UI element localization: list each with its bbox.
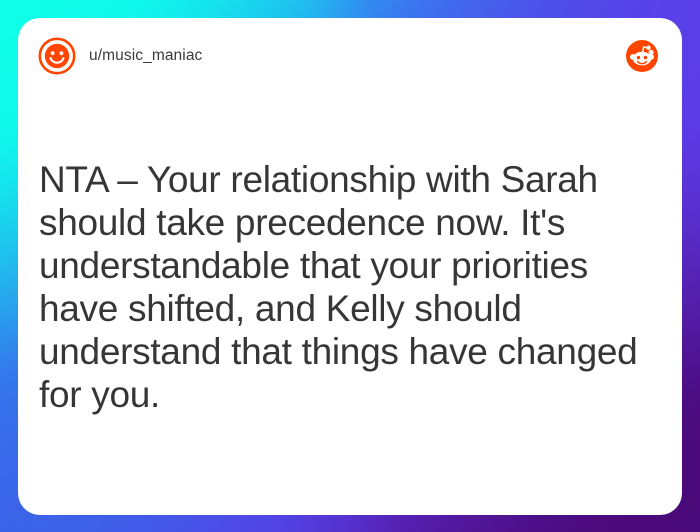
smiley-face-avatar-icon bbox=[38, 37, 76, 75]
post-text: NTA – Your relationship with Sarah shoul… bbox=[39, 158, 658, 416]
post-body: NTA – Your relationship with Sarah shoul… bbox=[39, 158, 658, 416]
post-header: u/music_maniac bbox=[18, 18, 682, 94]
reddit-post-card: u/music_maniac bbox=[18, 18, 682, 515]
gradient-background: u/music_maniac bbox=[0, 0, 700, 532]
avatar[interactable] bbox=[38, 37, 76, 75]
username-label: u/music_maniac bbox=[89, 47, 202, 65]
reddit-snoo-logo-icon[interactable] bbox=[626, 40, 658, 72]
